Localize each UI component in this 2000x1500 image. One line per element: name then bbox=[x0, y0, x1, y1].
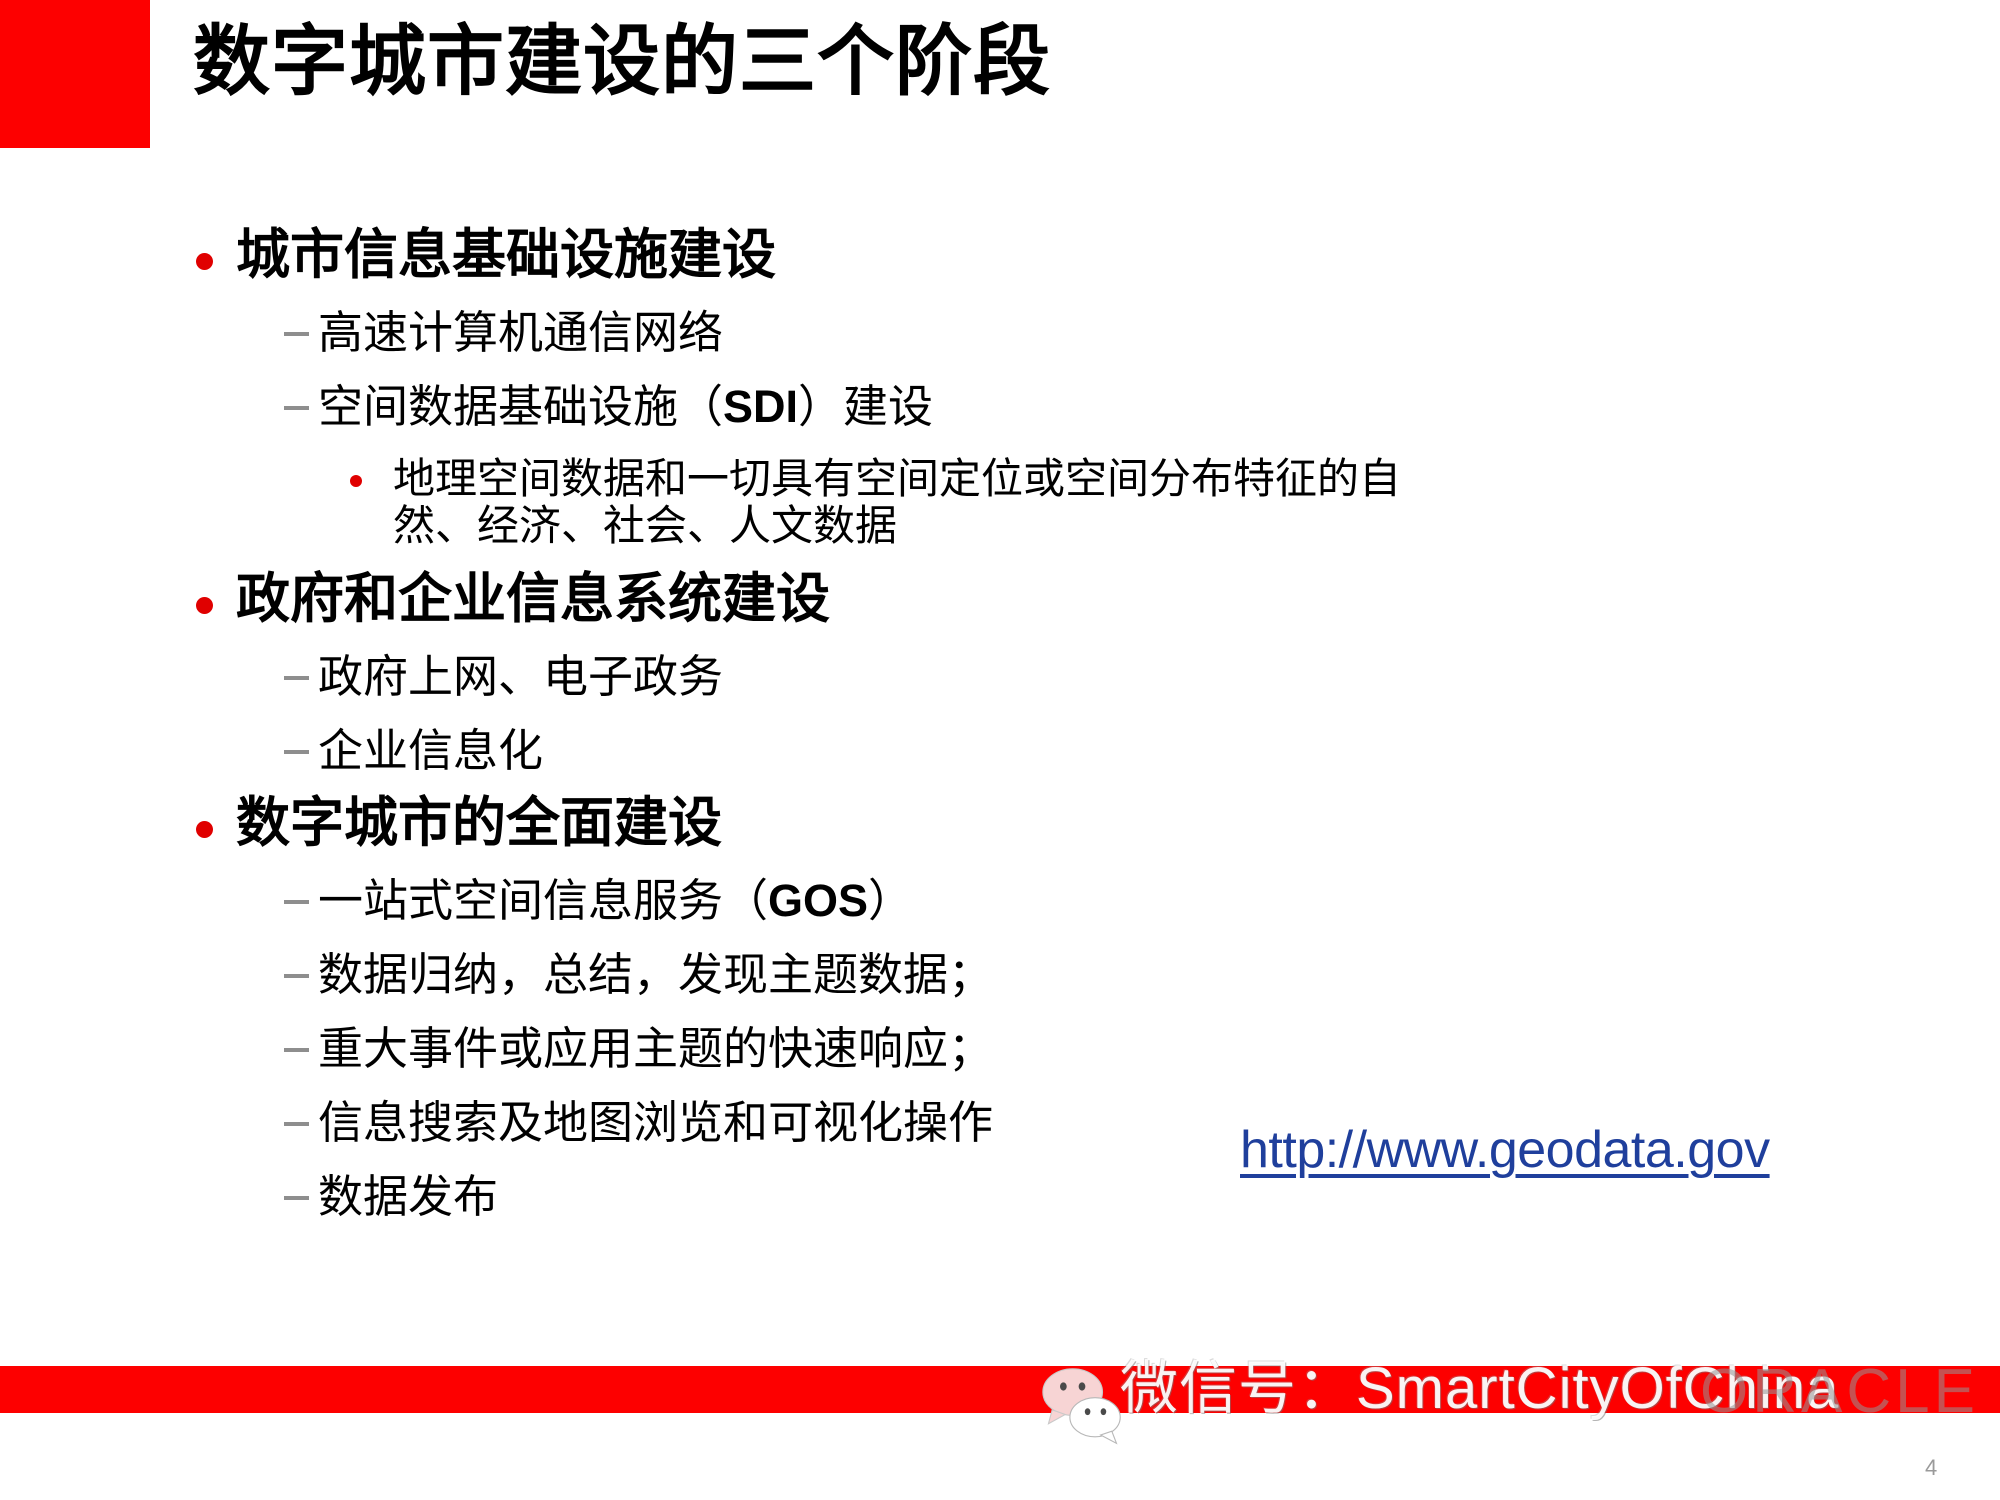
bullet-level2-label-suffix: ） bbox=[868, 874, 913, 927]
bullet-level1-gov-enterprise-systems: 政府和企业信息系统建设 bbox=[0, 571, 2000, 625]
bullet-level1-full-digital-city: 数字城市的全面建设 bbox=[0, 795, 2000, 849]
bullet-level2-data-summary: 数据归纳，总结，发现主题数据； bbox=[0, 952, 2000, 997]
page-number: 4 bbox=[1925, 1455, 1937, 1481]
dash-marker-icon bbox=[284, 900, 309, 904]
bullet-level2-label-prefix: 空间数据基础设施（ bbox=[318, 380, 723, 433]
bullet-level2-label: 企业信息化 bbox=[318, 724, 543, 777]
bullet-level2-label: 政府上网、电子政务 bbox=[318, 650, 723, 703]
bullet-level2-label: 重大事件或应用主题的快速响应； bbox=[318, 1022, 993, 1075]
bullet-level1-label: 政府和企业信息系统建设 bbox=[236, 566, 830, 630]
bullet-level2-gos: 一站式空间信息服务（GOS） bbox=[0, 878, 2000, 923]
bullet-level3-geospatial-data: 地理空间数据和一切具有空间定位或空间分布特征的自然、经济、社会、人文数据 bbox=[0, 455, 2000, 549]
bullet-level2-enterprise-informatization: 企业信息化 bbox=[0, 728, 2000, 773]
bullet-level2-label-prefix: 一站式空间信息服务（ bbox=[318, 874, 768, 927]
dash-marker-icon bbox=[284, 1196, 309, 1200]
abbr-gos: GOS bbox=[768, 875, 868, 926]
geodata-link[interactable]: http://www.geodata.gov bbox=[1240, 1120, 1770, 1180]
bullet-level3-label: 地理空间数据和一切具有空间定位或空间分布特征的自然、经济、社会、人文数据 bbox=[393, 454, 1401, 550]
page-title: 数字城市建设的三个阶段 bbox=[193, 22, 1051, 103]
bullet-level1-label: 数字城市的全面建设 bbox=[236, 790, 722, 854]
bullet-level2-data-publishing: 数据发布 bbox=[0, 1174, 2000, 1219]
title-accent-block bbox=[0, 0, 150, 148]
dash-marker-icon bbox=[284, 974, 309, 978]
bullet-level2-label-suffix: ）建设 bbox=[798, 380, 933, 433]
bullet-level2-label: 数据发布 bbox=[318, 1170, 498, 1223]
bullet-level2-label: 信息搜索及地图浏览和可视化操作 bbox=[318, 1096, 993, 1149]
bullet-level1-city-info-infrastructure: 城市信息基础设施建设 bbox=[0, 227, 2000, 281]
dash-marker-icon bbox=[284, 750, 309, 754]
bullet-dot-icon bbox=[350, 475, 362, 487]
bullet-level2-sdi: 空间数据基础设施（SDI）建设 bbox=[0, 384, 2000, 429]
bullet-level2-label: 高速计算机通信网络 bbox=[318, 306, 723, 359]
bullet-level2-gov-online: 政府上网、电子政务 bbox=[0, 654, 2000, 699]
dash-marker-icon bbox=[284, 406, 309, 410]
bullet-dot-icon bbox=[196, 597, 213, 614]
slide-body: 城市信息基础设施建设 高速计算机通信网络 空间数据基础设施（SDI）建设 地理空… bbox=[0, 205, 2000, 1219]
dash-marker-icon bbox=[284, 676, 309, 680]
wechat-logo-icon bbox=[1035, 1366, 1129, 1448]
abbr-sdi: SDI bbox=[723, 381, 798, 432]
oracle-logo-watermark: ORACLE bbox=[1700, 1356, 1979, 1427]
bullet-level2-rapid-response: 重大事件或应用主题的快速响应； bbox=[0, 1026, 2000, 1071]
bullet-level1-label: 城市信息基础设施建设 bbox=[236, 222, 776, 286]
bullet-dot-icon bbox=[196, 821, 213, 838]
bullet-level2-label: 数据归纳，总结，发现主题数据； bbox=[318, 948, 993, 1001]
dash-marker-icon bbox=[284, 332, 309, 336]
bullet-level2-high-speed-network: 高速计算机通信网络 bbox=[0, 310, 2000, 355]
dash-marker-icon bbox=[284, 1122, 309, 1126]
dash-marker-icon bbox=[284, 1048, 309, 1052]
bullet-dot-icon bbox=[196, 253, 213, 270]
